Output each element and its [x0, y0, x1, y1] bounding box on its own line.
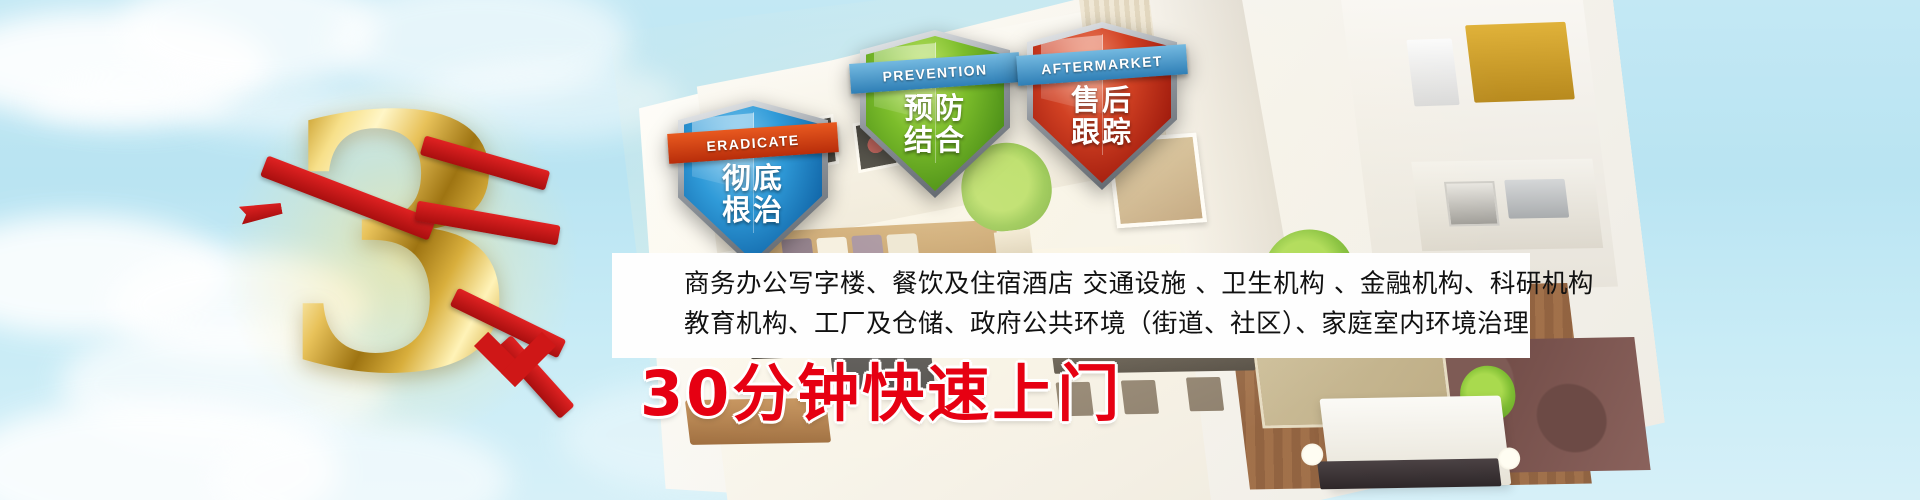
shield-english-label: ERADICATE	[706, 132, 800, 154]
shield-chinese-line2: 结合	[860, 124, 1010, 156]
shield-chinese-line1: 彻底	[678, 162, 828, 194]
kitchen-cabinet	[1465, 22, 1575, 103]
kitchen-sink	[1504, 178, 1569, 218]
shield-chinese-label: 售后 跟踪	[1027, 84, 1177, 148]
shield-chinese-line2: 跟踪	[1027, 116, 1177, 148]
scope-line-1: 商务办公写字楼、餐饮及住宿酒店 交通设施 、卫生机构 、金融机构、科研机构	[684, 264, 1530, 304]
scope-line-2: 教育机构、工厂及仓储、政府公共环境（街道、社区）、家庭室内环境治理	[684, 304, 1530, 344]
dining-chair	[1186, 377, 1224, 411]
headline-text: 30分钟快速上门	[640, 358, 1122, 430]
badge-shield-aftermarket[interactable]: AFTERMARKET 售后 跟踪	[1027, 22, 1177, 190]
shield-chinese-line2: 根治	[678, 194, 828, 226]
shield-chinese-line1: 售后	[1027, 84, 1177, 116]
oven	[1444, 181, 1500, 226]
shield-english-label: PREVENTION	[882, 61, 988, 84]
promo-banner: 3 ERADICATE 彻底 根治 PREVENTION	[0, 0, 1920, 500]
badge-shield-eradicate[interactable]: ERADICATE 彻底 根治	[678, 100, 828, 268]
shield-chinese-label: 预防 结合	[860, 92, 1010, 156]
service-scope-panel: 商务办公写字楼、餐饮及住宿酒店 交通设施 、卫生机构 、金融机构、科研机构 教育…	[612, 253, 1530, 358]
shield-english-label: AFTERMARKET	[1041, 53, 1164, 77]
hero-number-3: 3	[250, 95, 550, 425]
bed-headboard	[1317, 458, 1501, 489]
dining-chair	[1121, 380, 1159, 414]
shield-chinese-label: 彻底 根治	[678, 162, 828, 226]
shield-chinese-line1: 预防	[860, 92, 1010, 124]
badge-shield-prevention[interactable]: PREVENTION 预防 结合	[860, 30, 1010, 198]
range-hood	[1406, 39, 1459, 107]
